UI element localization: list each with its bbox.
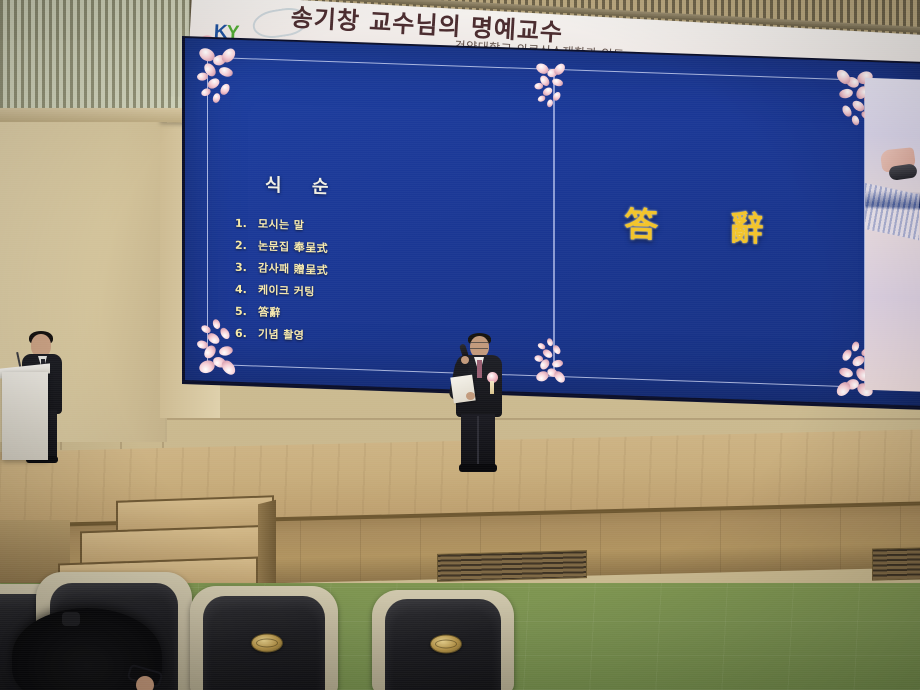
stage-vent-grille	[437, 550, 587, 582]
speaker-shoes	[459, 464, 497, 472]
agenda-item: 3. 감사패 贈呈式	[235, 262, 435, 280]
projection-screen: 식 순 1. 모시는 말 2. 논문집 奉呈式 3. 감사패 贈呈式 4. 케이…	[185, 38, 920, 406]
auditorium-photo: KY 송기창 교수님의 명예교수 건양대학교 의료신소재학과 일동 식 순 1.…	[0, 0, 920, 690]
agenda-item-number: 4.	[235, 284, 249, 295]
speaker-leg-split	[477, 416, 479, 466]
mouse-icon	[888, 163, 918, 181]
agenda-item-number: 2.	[235, 240, 249, 251]
agenda-item-label: 감사패 贈呈式	[258, 263, 328, 276]
left-wall-ledge	[0, 108, 200, 122]
side-display	[865, 78, 920, 392]
list-item[interactable]	[372, 590, 514, 690]
slide-left-panel: 식 순 1. 모시는 말 2. 논문집 奉呈式 3. 감사패 贈呈式 4. 케이…	[207, 57, 553, 377]
speaker-glasses-icon	[470, 342, 488, 349]
agenda-item-number: 3.	[235, 262, 249, 273]
keyboard-image	[865, 183, 919, 240]
agenda-item-label: 기념 촬영	[258, 329, 304, 342]
list-item[interactable]	[190, 586, 338, 690]
agenda-heading: 식 순	[265, 171, 340, 200]
agenda-item: 4. 케이크 커팅	[235, 284, 435, 302]
speaker-necktie	[477, 360, 482, 378]
speaker-corsage-ribbon	[490, 381, 494, 394]
podium: KY 건양대학교 KY	[2, 372, 48, 460]
hair-clip	[62, 612, 80, 626]
audience-member-ear	[136, 676, 154, 690]
step-side-panel	[258, 500, 276, 590]
agenda-item-label: 答辭	[258, 307, 281, 319]
agenda-item-label: 모시는 말	[258, 219, 304, 232]
agenda-item-number: 1.	[235, 218, 249, 229]
agenda-item-number: 5.	[235, 306, 249, 317]
agenda-item: 1. 모시는 말	[235, 218, 435, 236]
agenda-item-label: 케이크 커팅	[258, 285, 315, 298]
agenda-item: 5. 答辭	[235, 306, 435, 324]
slide-headline: 答 辭	[624, 197, 794, 252]
speaker-hand-lower	[466, 392, 475, 400]
speaker-hand	[461, 356, 469, 364]
agenda-item: 6. 기념 촬영	[235, 328, 435, 346]
agenda-item-label: 논문집 奉呈式	[258, 241, 328, 254]
agenda-item: 2. 논문집 奉呈式	[235, 240, 435, 258]
slide-right-panel: 答 辭	[553, 69, 865, 388]
agenda-list: 1. 모시는 말 2. 논문집 奉呈式 3. 감사패 贈呈式 4. 케이크 커팅…	[235, 218, 435, 357]
left-ceiling-slats	[0, 0, 190, 112]
seat-emblem-icon	[430, 635, 462, 654]
stage-vent-grille-right	[872, 547, 920, 580]
agenda-item-number: 6.	[235, 328, 249, 339]
seat-emblem-icon	[251, 634, 283, 653]
